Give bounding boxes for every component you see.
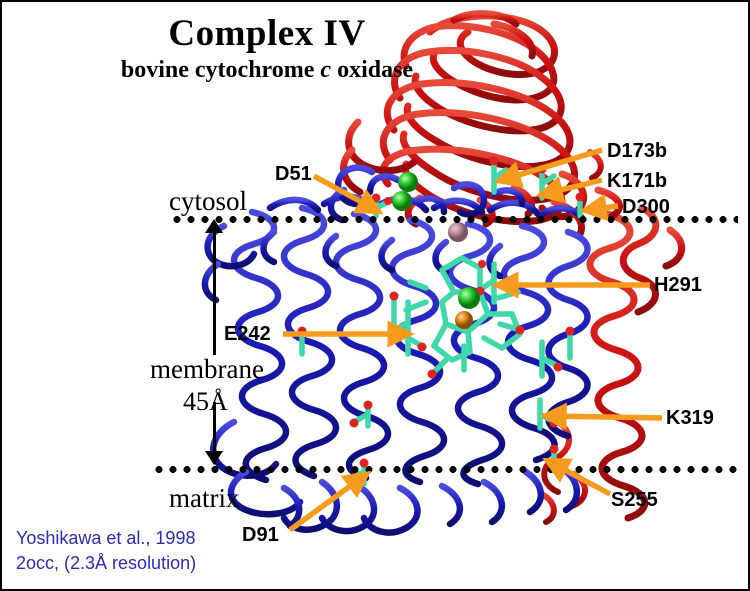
residue-label-d173b: D173b [607,140,667,163]
page-subtitle: bovine cytochrome c oxidase [2,57,532,84]
compartment-label-matrix: matrix [169,483,239,514]
figure-canvas: Complex IV bovine cytochrome c oxidase c… [0,0,750,591]
residue-label-e242: E242 [224,323,271,346]
citation-block: Yoshikawa et al., 1998 2occ, (2.3Å resol… [16,526,196,576]
compartment-label-membrane: membrane [150,354,264,385]
residue-label-s255: S255 [611,489,658,512]
thickness-arrow-head-down-icon [205,451,223,465]
residue-label-d51: D51 [275,163,312,186]
membrane-boundary-bottom-dotted-line-icon [152,466,738,473]
subtitle-italic-c: c [320,57,331,83]
subtitle-pre: bovine cytochrome [121,57,321,83]
residue-label-k171b: K171b [607,170,667,193]
membrane-thickness-value: 45Å [183,387,228,417]
compartment-label-cytosol: cytosol [169,186,247,217]
residue-label-h291: H291 [654,274,702,297]
residue-label-k319: K319 [666,407,714,430]
residue-label-d91: D91 [242,524,279,547]
thickness-arrow-shaft-upper-icon [213,230,216,355]
residue-label-d300: D300 [622,196,670,219]
citation-line-1: Yoshikawa et al., 1998 [16,526,196,551]
subtitle-post: oxidase [331,57,413,83]
citation-line-2: 2occ, (2.3Å resolution) [16,551,196,576]
page-title: Complex IV [2,12,532,55]
